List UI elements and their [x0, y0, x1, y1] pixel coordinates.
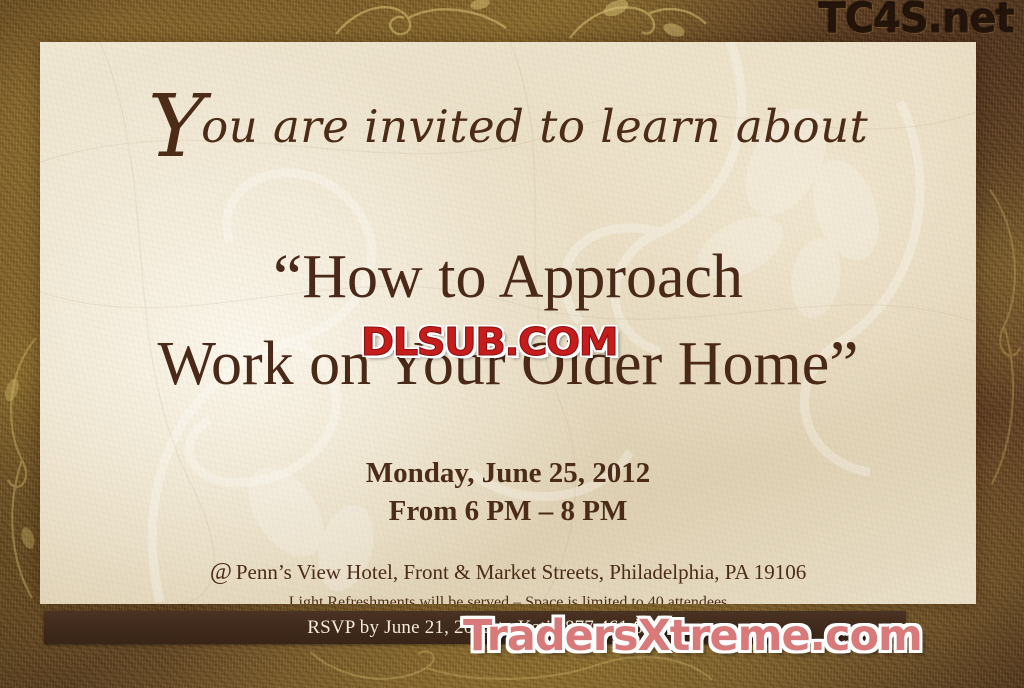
event-venue-line: @Penn’s View Hotel, Front & Market Stree… — [40, 559, 976, 586]
flyer-canvas: You are invited to learn about “How to A… — [0, 0, 1024, 688]
event-datetime-block: Monday, June 25, 2012 From 6 PM – 8 PM — [40, 454, 976, 531]
event-time: From 6 PM – 8 PM — [40, 492, 976, 530]
invitation-script-line: You are invited to learn about — [40, 100, 976, 153]
close-quote-mark: ” — [829, 328, 858, 401]
watermark-tc4s: TC4S.net — [819, 0, 1014, 43]
headline-line-1: “How to Approach — [40, 234, 976, 321]
headline-line-1-text: How to Approach — [302, 243, 743, 311]
watermark-dlsub: DLSUB.COM — [361, 320, 617, 364]
event-date: Monday, June 25, 2012 — [40, 454, 976, 492]
script-line-rest: ou are invited to learn about — [201, 100, 868, 153]
watermark-tradersxtreme: TradersXtreme.com — [463, 611, 922, 661]
at-symbol-icon: @ — [210, 559, 232, 585]
refreshments-note: Light Refreshments will be served – Spac… — [40, 594, 976, 604]
event-venue-text: Penn’s View Hotel, Front & Market Street… — [236, 560, 806, 584]
open-quote-mark: “ — [273, 241, 302, 314]
script-initial-y: Y — [148, 77, 205, 177]
